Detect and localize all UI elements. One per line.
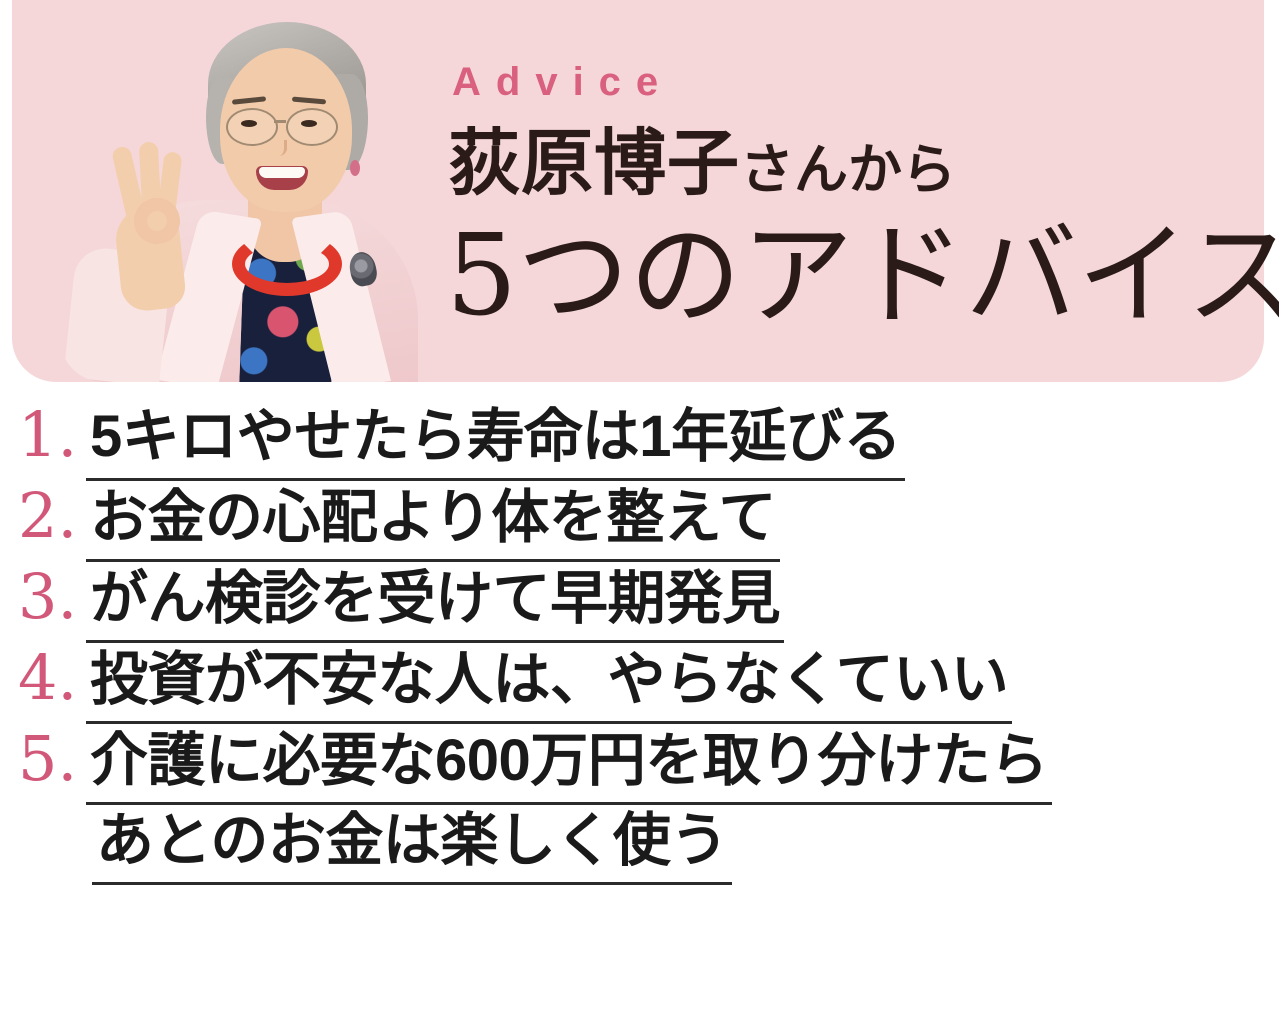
advice-number: 1. <box>0 404 86 466</box>
list-item: 5. 介護に必要な600万円を取り分けたら あとのお金は楽しく使う <box>0 728 1279 885</box>
adviser-name: 荻原博子 <box>448 124 740 204</box>
eye-right <box>301 120 317 127</box>
mouth-shape <box>256 166 308 190</box>
advice-text: がん検診を受けて早期発見 <box>86 567 784 643</box>
header-text-block: Advice 荻原博子さんから 5つのアドバイス <box>444 0 1264 382</box>
eyeglass-lens-right <box>286 108 338 146</box>
list-item: 2. お金の心配より体を整えて <box>0 485 1279 562</box>
teeth-shape <box>259 167 305 178</box>
eyeglass-bridge <box>274 120 286 123</box>
adviser-name-line: 荻原博子さんから <box>448 128 956 200</box>
advice-text-wrap: 介護に必要な600万円を取り分けたら <box>86 729 1052 805</box>
eye-left <box>241 120 257 127</box>
advice-text: 5キロやせたら寿命は1年延びる <box>86 405 905 481</box>
advice-text-wrap: あとのお金は楽しく使う <box>92 809 732 885</box>
advice-row: 4. 投資が不安な人は、やらなくていい <box>0 647 1279 724</box>
earring-icon <box>350 160 360 176</box>
advice-row-continuation: あとのお金は楽しく使う <box>0 809 1279 885</box>
adviser-photo <box>60 0 420 382</box>
advice-number: 5. <box>0 728 86 790</box>
photo-illustration <box>60 0 420 382</box>
header-panel: Advice 荻原博子さんから 5つのアドバイス <box>12 0 1264 382</box>
advice-text: 投資が不安な人は、やらなくていい <box>86 648 1012 724</box>
eyeglass-lens-left <box>226 108 278 146</box>
advice-number: 4. <box>0 647 86 709</box>
advice-row: 3. がん検診を受けて早期発見 <box>0 566 1279 643</box>
advice-text: あとのお金は楽しく使う <box>92 809 732 885</box>
advice-text-wrap: お金の心配より体を整えて <box>86 486 780 562</box>
ok-hand-gesture-icon <box>96 142 200 312</box>
adviser-name-suffix: さんから <box>740 140 956 200</box>
advice-text-wrap: 投資が不安な人は、やらなくていい <box>86 648 1012 724</box>
advice-row: 2. お金の心配より体を整えて <box>0 485 1279 562</box>
red-bead-necklace <box>232 232 342 296</box>
advice-text-wrap: がん検診を受けて早期発見 <box>86 567 784 643</box>
list-item: 4. 投資が不安な人は、やらなくていい <box>0 647 1279 724</box>
list-item: 1. 5キロやせたら寿命は1年延びる <box>0 404 1279 481</box>
advice-number: 3. <box>0 566 86 628</box>
page-title: 5つのアドバイス <box>446 216 1279 337</box>
advice-text: お金の心配より体を整えて <box>86 486 780 562</box>
advice-text-wrap: 5キロやせたら寿命は1年延びる <box>86 405 905 481</box>
list-item: 3. がん検診を受けて早期発見 <box>0 566 1279 643</box>
advice-row: 5. 介護に必要な600万円を取り分けたら <box>0 728 1279 805</box>
advice-number: 2. <box>0 485 86 547</box>
advice-label: Advice <box>452 62 673 102</box>
advice-text: 介護に必要な600万円を取り分けたら <box>86 729 1052 805</box>
advice-row: 1. 5キロやせたら寿命は1年延びる <box>0 404 1279 481</box>
advice-list: 1. 5キロやせたら寿命は1年延びる 2. お金の心配より体を整えて 3. がん… <box>0 404 1279 889</box>
